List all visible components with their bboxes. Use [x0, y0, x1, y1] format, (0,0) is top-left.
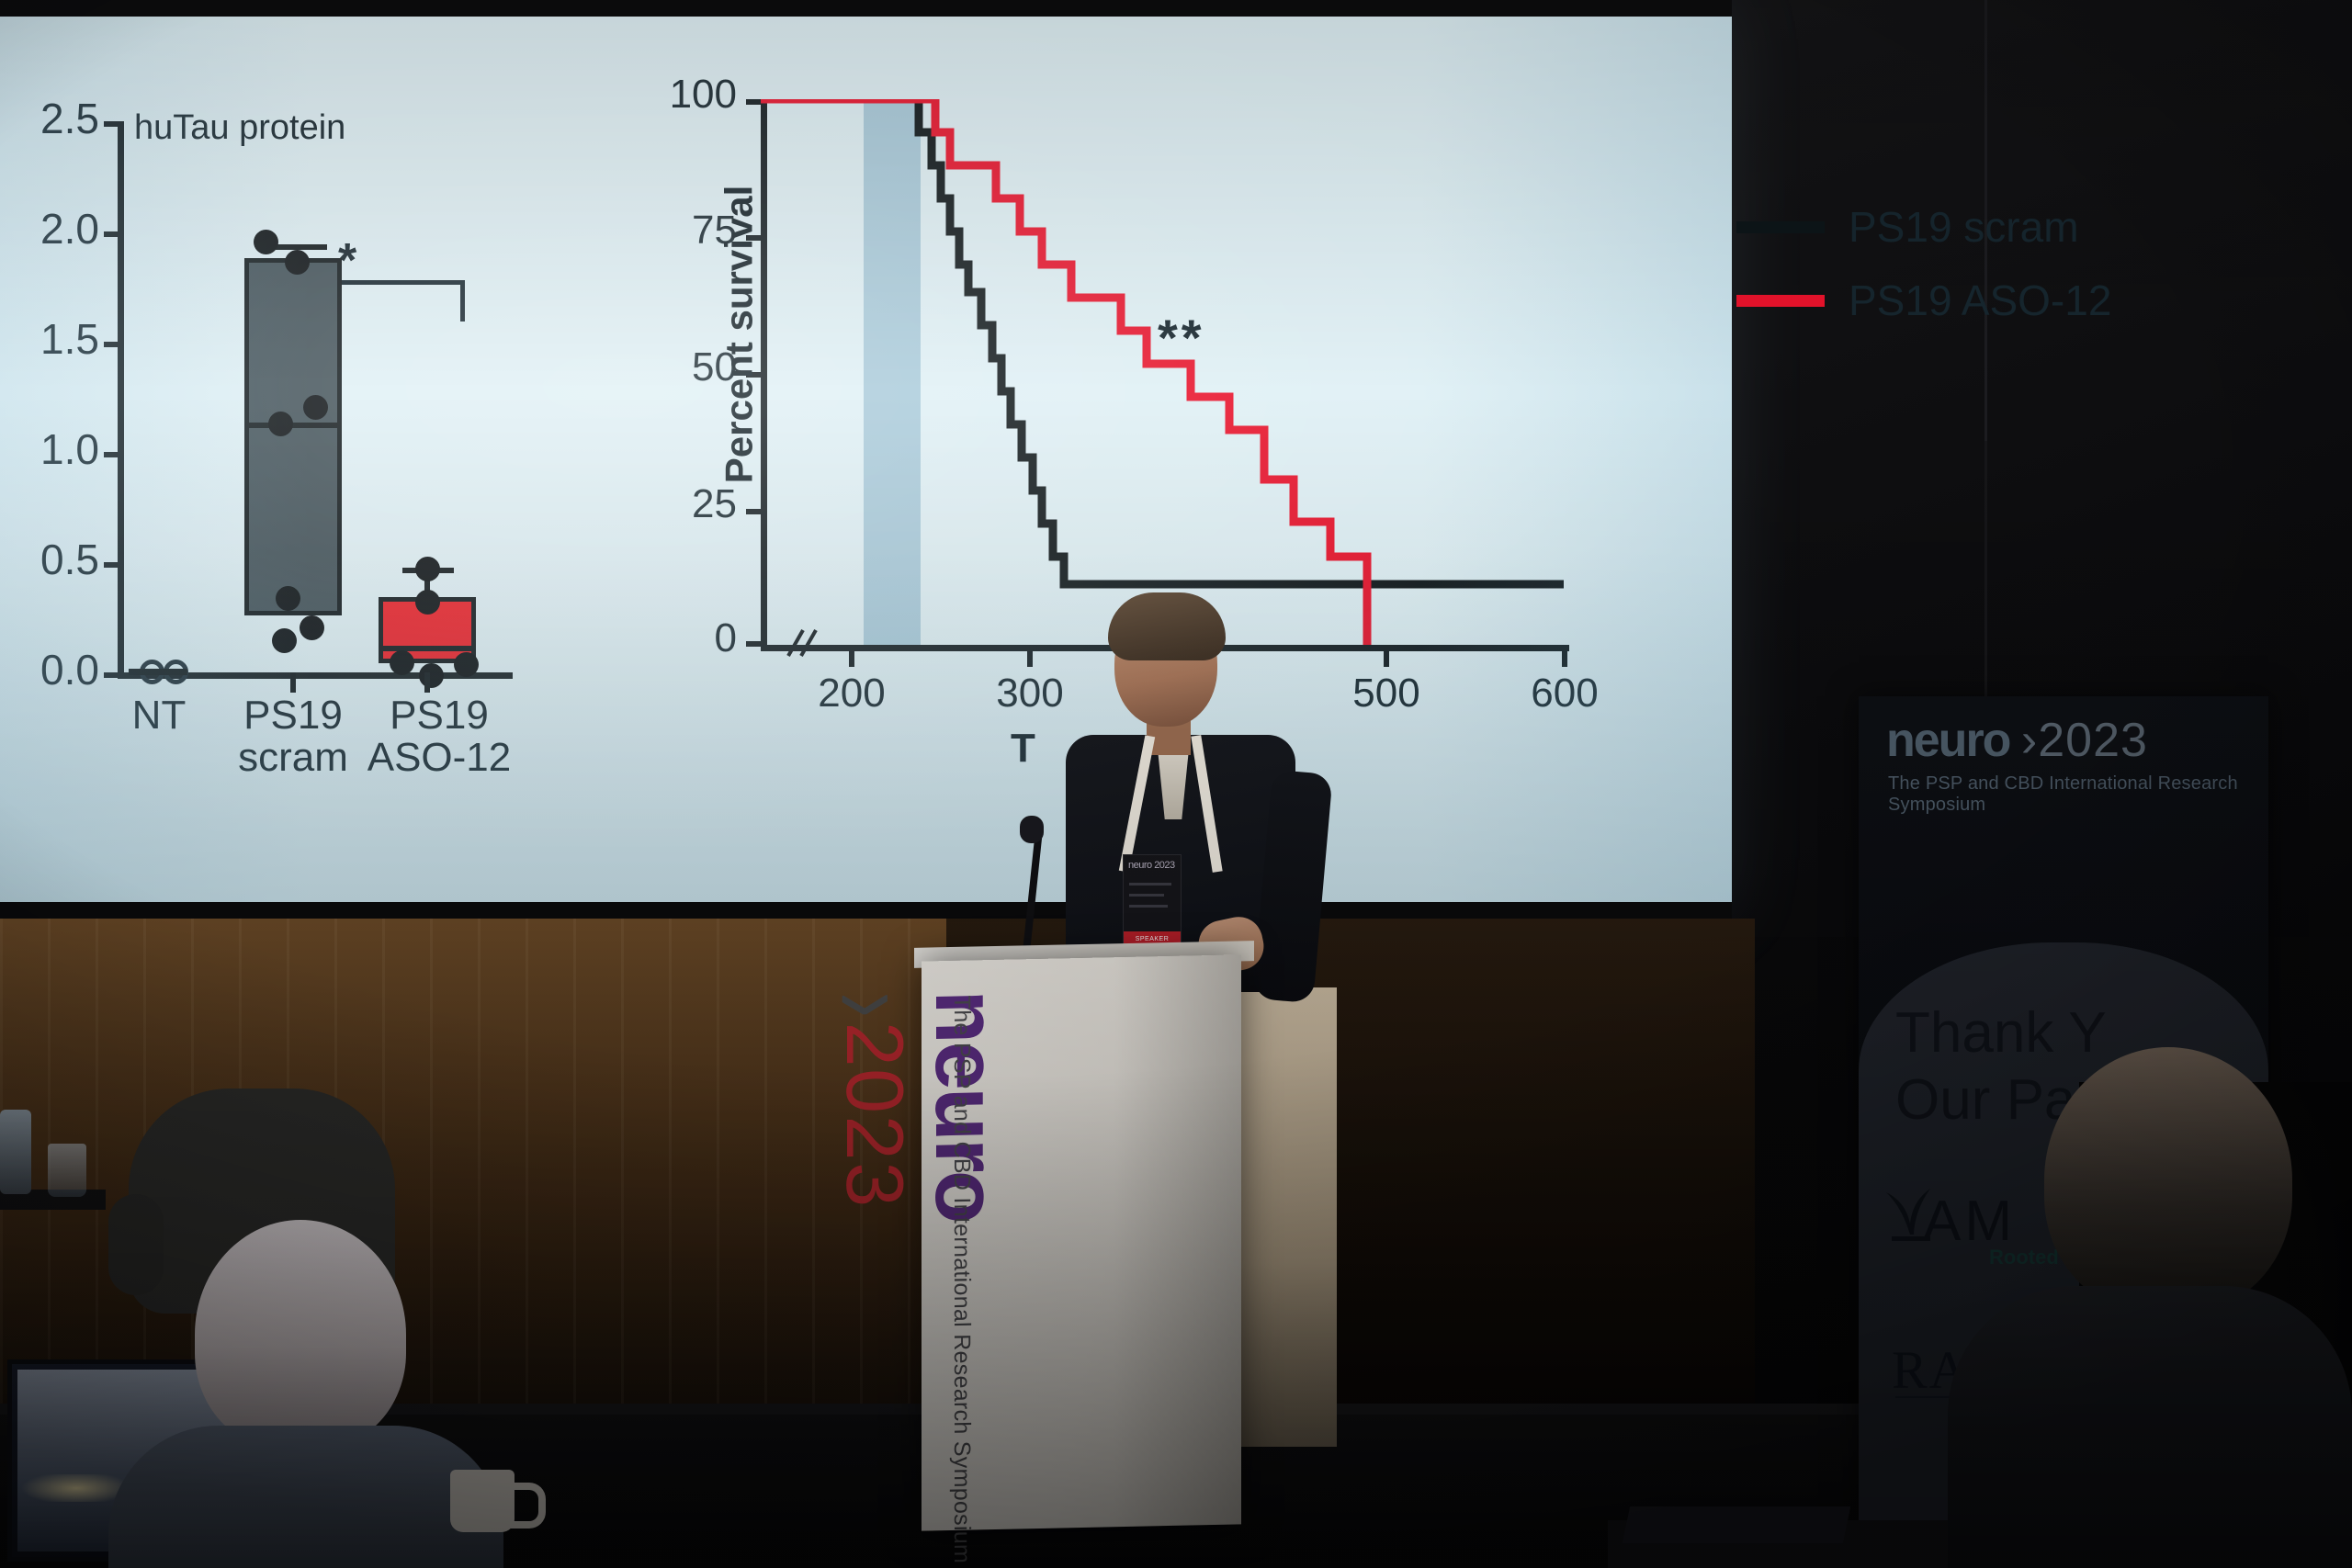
x-tick: [424, 672, 430, 693]
x-tick-label-aso12: PS19 ASO-12: [356, 694, 522, 779]
x-tick-label: 300: [966, 671, 1094, 716]
data-point: [276, 586, 300, 611]
podium: neuro › 2023 The PSP and CBD Internation…: [922, 954, 1241, 1530]
y-tick-label: 1.0: [0, 424, 99, 474]
x-axis-title: T: [1011, 726, 1035, 772]
water-bottle: [0, 1110, 31, 1194]
sponsor-amylyx-name: AM: [1923, 1189, 2016, 1254]
banner-thanks-line2: Our Pa: [1895, 1068, 2075, 1132]
label-line-1: PS19: [390, 693, 489, 738]
data-point: [390, 650, 414, 675]
y-axis-title-text: huTau protein: [134, 108, 345, 147]
y-tick: [104, 562, 122, 568]
data-point: [272, 628, 297, 653]
y-axis-line: [118, 121, 124, 677]
badge-line: [1129, 894, 1164, 897]
data-point: [454, 652, 479, 677]
legend-item: PS19 scram: [1736, 202, 2111, 252]
banner-logo: neuro ›2023: [1886, 713, 2148, 768]
x-tick-label-scram: PS19 scram: [224, 694, 362, 779]
coffee-mug-handle: [511, 1483, 546, 1529]
x-tick-label-nt: NT: [108, 694, 209, 737]
chair-armrest: [108, 1194, 164, 1295]
speaker-hair: [1108, 592, 1226, 660]
legend-swatch-scram: [1736, 221, 1825, 233]
podium-logo: neuro › 2023: [828, 989, 1010, 1224]
y-tick-label: 100: [636, 72, 737, 118]
coffee-mug: [450, 1470, 514, 1532]
whisker-cap-high-scram: [276, 244, 327, 250]
x-tick-label: 600: [1500, 671, 1629, 716]
badge-line: [1129, 883, 1171, 886]
podium-tagline: The PSP and CBD International Research S…: [948, 995, 975, 1563]
data-point: [419, 663, 444, 688]
y-tick-label: 0.5: [0, 535, 99, 584]
median-line-aso12: [379, 646, 476, 651]
drinking-glass: [48, 1144, 86, 1197]
y-tick-label: 25: [636, 481, 737, 527]
label-line-1: PS19: [243, 693, 343, 738]
y-tick: [104, 231, 122, 237]
speaker-badge: neuro 2023 SPEAKER: [1123, 854, 1182, 944]
badge-logo: neuro 2023: [1128, 860, 1175, 871]
y-tick: [104, 452, 122, 457]
banner-thanks-line1: Thank Y: [1895, 1001, 2107, 1065]
y-axis-title: huTau protein: [134, 110, 345, 146]
median-line-scram: [244, 423, 342, 428]
chevron-right-icon: ›: [2021, 714, 2038, 767]
y-tick-label: 1.5: [0, 314, 99, 364]
x-tick-label: 200: [787, 671, 916, 716]
projection-screen: 2.5 2.0 1.5 1.0 0.5 0.0 huTau protein *: [0, 0, 1732, 919]
screen-top-edge: [0, 0, 1732, 17]
survival-curves-svg: [761, 99, 1578, 650]
data-point: [285, 250, 310, 275]
y-tick-label: 0.0: [0, 645, 99, 694]
audience-head-left: [195, 1220, 406, 1450]
data-point: [303, 395, 328, 420]
legend-label-aso12: PS19 ASO-12: [1849, 276, 2111, 325]
data-point: [300, 615, 324, 640]
chart-hutau-box-plot: 2.5 2.0 1.5 1.0 0.5 0.0 huTau protein *: [0, 83, 606, 799]
legend-label-scram: PS19 scram: [1849, 202, 2079, 252]
podium-tagline-wrap: The PSP and CBD International Research S…: [948, 995, 975, 1563]
data-point: [268, 412, 293, 436]
microphone-head: [1020, 816, 1044, 843]
audience-shoulders-right: [1948, 1286, 2352, 1568]
badge-line: [1129, 905, 1168, 908]
y-axis-title: Percent survival: [717, 186, 761, 484]
legend-swatch-aso12: [1736, 295, 1825, 307]
label-line-2: ASO-12: [367, 735, 512, 780]
data-point: [254, 230, 278, 254]
x-tick: [290, 672, 296, 693]
podium-logo-year: 2023: [830, 1021, 921, 1210]
audience-shoulders-left: [108, 1426, 503, 1568]
x-tick-label: 500: [1322, 671, 1451, 716]
y-tick-label: 2.0: [0, 204, 99, 254]
chart-legend: PS19 scram PS19 ASO-12: [1736, 202, 2111, 349]
speaker-legs: [1236, 987, 1337, 1447]
data-point: [415, 590, 440, 615]
foreground-laptop: [1623, 1506, 1851, 1543]
presentation-photo: 2.5 2.0 1.5 1.0 0.5 0.0 huTau protein *: [0, 0, 2352, 1568]
y-tick-label: 0: [636, 615, 737, 661]
audience-head-right: [2044, 1047, 2292, 1314]
y-tick: [104, 342, 122, 347]
box-ps19-scram: [244, 258, 342, 615]
chevron-right-icon: ›: [807, 990, 941, 1019]
banner-logo-word: neuro: [1886, 714, 2009, 767]
y-tick-label: 2.5: [0, 94, 99, 143]
legend-item: PS19 ASO-12: [1736, 276, 2111, 325]
y-tick: [104, 121, 122, 127]
significance-stars: **: [1158, 308, 1205, 367]
sponsor-amylyx-tagline: Rooted: [1989, 1246, 2059, 1269]
badge-role-label: SPEAKER: [1124, 936, 1181, 942]
nt-marker-line: [129, 669, 187, 675]
label-line-2: scram: [238, 735, 348, 780]
y-tick: [104, 672, 122, 678]
data-point: [415, 557, 440, 581]
banner-tagline: The PSP and CBD International Research S…: [1888, 773, 2268, 816]
banner-logo-year: 2023: [2038, 714, 2148, 767]
